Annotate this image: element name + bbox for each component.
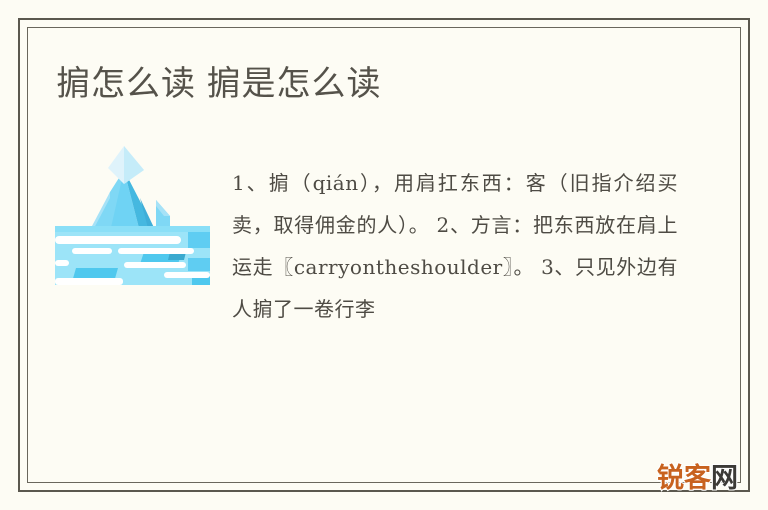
iceberg-illustration [52, 140, 214, 290]
article-body: 1、掮（qián），用肩扛东西：客（旧指介绍买卖，取得佣金的人）。 2、方言：把… [232, 162, 678, 330]
iceberg-cap-shade [124, 146, 144, 184]
page-title: 掮怎么读 掮是怎么读 [56, 62, 381, 106]
foam-streak-2 [72, 248, 112, 254]
ice-floe-right-top [188, 232, 210, 248]
foam-streak-3 [118, 248, 194, 254]
foam-streak-1 [55, 236, 181, 244]
ice-floe-right-mid [188, 258, 210, 271]
watermark-primary: 锐客 [657, 463, 711, 493]
foam-streak-4 [124, 262, 186, 268]
watermark-secondary: 网 [711, 463, 738, 493]
foam-streak-5 [164, 272, 210, 278]
site-watermark: 锐客网 [657, 462, 738, 494]
water-surface-band [55, 226, 210, 232]
page-root: 掮怎么读 掮是怎么读 [0, 0, 768, 510]
foam-streak-7 [55, 260, 69, 266]
foam-streak-6 [55, 278, 123, 285]
